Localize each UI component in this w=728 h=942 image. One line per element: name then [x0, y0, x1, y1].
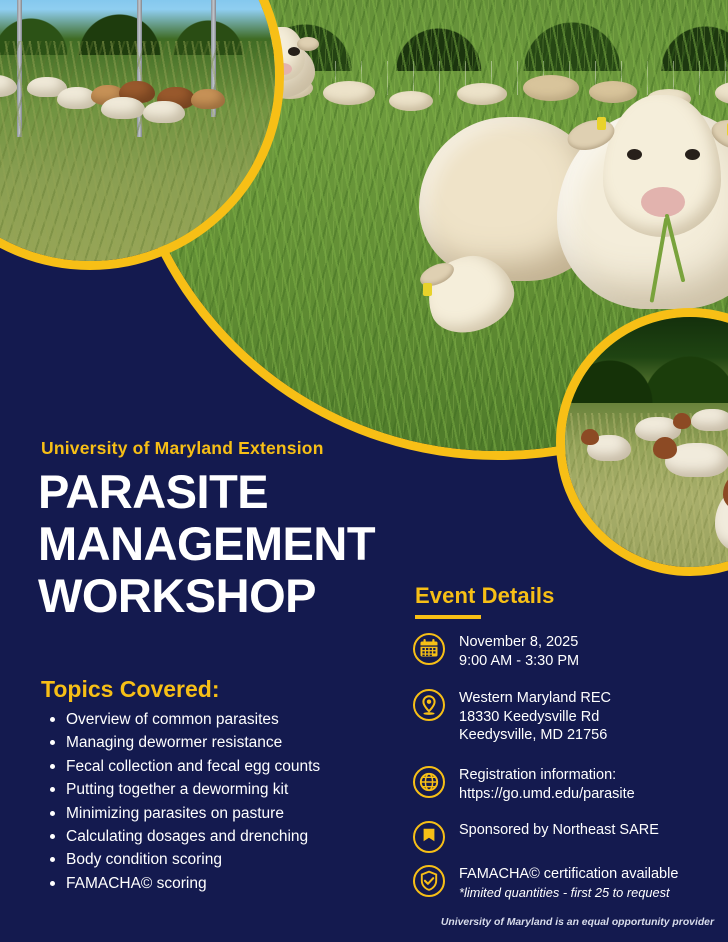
ribbon-badge-icon [412, 820, 446, 854]
event-details-heading: Event Details [415, 583, 716, 609]
date-line: November 8, 2025 [459, 634, 578, 650]
registration-url[interactable]: https://go.umd.edu/parasite [459, 786, 635, 802]
detail-text-famacha: FAMACHA© certification available *limite… [459, 864, 678, 902]
location-pin-icon [412, 688, 446, 722]
title-line-3: WORKSHOP [38, 570, 375, 622]
heading-underline [415, 615, 481, 619]
list-item: Minimizing parasites on pasture [66, 802, 320, 825]
detail-row-registration[interactable]: Registration information: https://go.umd… [412, 765, 635, 803]
goats-under-shade-photo [0, 0, 284, 270]
detail-text-sponsor: Sponsored by Northeast SARE [459, 820, 659, 840]
detail-row-date: November 8, 2025 9:00 AM - 3:30 PM [412, 632, 579, 670]
boer-goats-photo [556, 308, 728, 576]
equal-opportunity-footer: University of Maryland is an equal oppor… [441, 917, 714, 928]
list-item: Overview of common parasites [66, 708, 320, 731]
detail-row-location: Western Maryland REC 18330 Keedysville R… [412, 688, 611, 745]
registration-label: Registration information: [459, 767, 616, 783]
topics-list: Overview of common parasites Managing de… [44, 708, 320, 895]
detail-text-date: November 8, 2025 9:00 AM - 3:30 PM [459, 632, 579, 670]
event-details-section: Event Details [412, 583, 716, 619]
organization-name: University of Maryland Extension [41, 438, 324, 459]
detail-text-location: Western Maryland REC 18330 Keedysville R… [459, 688, 611, 745]
calendar-icon [412, 632, 446, 666]
famacha-note: *limited quantities - first 25 to reques… [459, 885, 670, 900]
globe-icon [412, 765, 446, 799]
list-item: FAMACHA© scoring [66, 872, 320, 895]
poster-canvas: University of Maryland Extension PARASIT… [0, 0, 728, 942]
page-title: PARASITE MANAGEMENT WORKSHOP [38, 466, 375, 622]
detail-row-sponsor: Sponsored by Northeast SARE [412, 820, 659, 854]
topics-heading: Topics Covered: [41, 676, 220, 703]
list-item: Calculating dosages and drenching [66, 825, 320, 848]
detail-text-registration: Registration information: https://go.umd… [459, 765, 635, 803]
list-item: Managing dewormer resistance [66, 731, 320, 754]
time-line: 9:00 AM - 3:30 PM [459, 653, 579, 669]
street-line: 18330 Keedysville Rd [459, 709, 599, 725]
shield-check-icon [412, 864, 446, 898]
famacha-line: FAMACHA© certification available [459, 866, 678, 882]
city-line: Keedysville, MD 21756 [459, 727, 607, 743]
list-item: Fecal collection and fecal egg counts [66, 755, 320, 778]
venue-line: Western Maryland REC [459, 690, 611, 706]
list-item: Body condition scoring [66, 848, 320, 871]
list-item: Putting together a deworming kit [66, 778, 320, 801]
detail-row-famacha: FAMACHA© certification available *limite… [412, 864, 678, 902]
title-line-1: PARASITE [38, 466, 375, 518]
title-line-2: MANAGEMENT [38, 518, 375, 570]
